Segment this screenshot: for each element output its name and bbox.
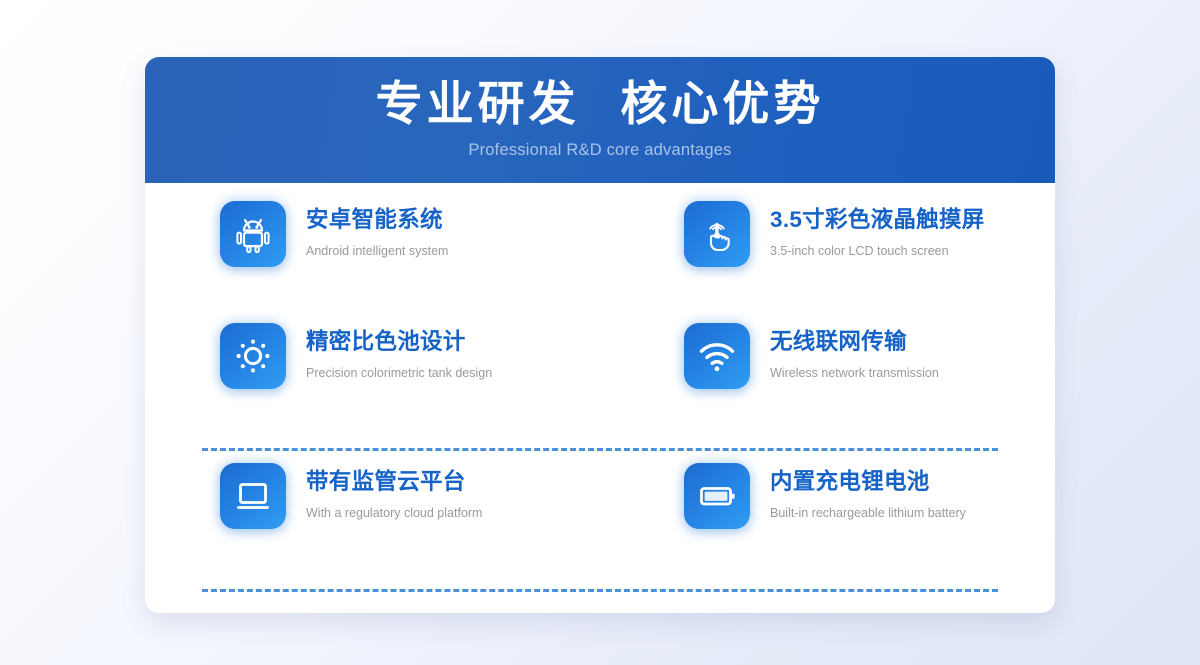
feature-text: 带有监管云平台 With a regulatory cloud platform xyxy=(286,463,482,521)
feature-title: 3.5寸彩色液晶触摸屏 xyxy=(770,206,985,233)
feature-item-colorimetric-tank[interactable]: 精密比色池设计 Precision colorimetric tank desi… xyxy=(145,323,600,389)
feature-item-wireless[interactable]: 无线联网传输 Wireless network transmission xyxy=(600,323,1055,389)
laptop-monitor-icon xyxy=(220,463,286,529)
feature-item-touchscreen[interactable]: 3.5寸彩色液晶触摸屏 3.5-inch color LCD touch scr… xyxy=(600,201,1055,267)
section-divider xyxy=(202,589,998,592)
features-grid: 安卓智能系统 Android intelligent system xyxy=(145,183,1055,603)
battery-icon xyxy=(684,463,750,529)
advantages-card: 专业研发 核心优势 Professional R&D core advantag… xyxy=(145,57,1055,613)
feature-subtitle: Wireless network transmission xyxy=(770,355,939,381)
feature-title: 无线联网传输 xyxy=(770,328,939,355)
touch-hand-icon xyxy=(684,201,750,267)
feature-subtitle: With a regulatory cloud platform xyxy=(306,495,482,521)
feature-subtitle: Android intelligent system xyxy=(306,233,448,259)
feature-subtitle: Built-in rechargeable lithium battery xyxy=(770,495,966,521)
feature-text: 精密比色池设计 Precision colorimetric tank desi… xyxy=(286,323,492,381)
feature-row: 安卓智能系统 Android intelligent system xyxy=(145,183,1055,323)
sun-brightness-icon xyxy=(220,323,286,389)
feature-text: 3.5寸彩色液晶触摸屏 3.5-inch color LCD touch scr… xyxy=(750,201,985,259)
feature-item-cloud-platform[interactable]: 带有监管云平台 With a regulatory cloud platform xyxy=(145,463,600,529)
page-subtitle: Professional R&D core advantages xyxy=(145,131,1055,160)
page-title: 专业研发 核心优势 xyxy=(145,57,1055,131)
card-header: 专业研发 核心优势 Professional R&D core advantag… xyxy=(145,57,1055,183)
feature-subtitle: 3.5-inch color LCD touch screen xyxy=(770,233,985,259)
android-robot-icon xyxy=(220,201,286,267)
page-root: 专业研发 核心优势 Professional R&D core advantag… xyxy=(0,0,1200,665)
feature-item-android[interactable]: 安卓智能系统 Android intelligent system xyxy=(145,201,600,267)
feature-row: 精密比色池设计 Precision colorimetric tank desi… xyxy=(145,323,1055,463)
feature-title: 内置充电锂电池 xyxy=(770,468,966,495)
feature-title: 精密比色池设计 xyxy=(306,328,492,355)
feature-item-battery[interactable]: 内置充电锂电池 Built-in rechargeable lithium ba… xyxy=(600,463,1055,529)
feature-text: 安卓智能系统 Android intelligent system xyxy=(286,201,448,259)
feature-text: 无线联网传输 Wireless network transmission xyxy=(750,323,939,381)
feature-title: 带有监管云平台 xyxy=(306,468,482,495)
section-divider xyxy=(202,448,998,451)
feature-row: 带有监管云平台 With a regulatory cloud platform… xyxy=(145,463,1055,603)
wifi-icon xyxy=(684,323,750,389)
feature-text: 内置充电锂电池 Built-in rechargeable lithium ba… xyxy=(750,463,966,521)
feature-title: 安卓智能系统 xyxy=(306,206,448,233)
feature-subtitle: Precision colorimetric tank design xyxy=(306,355,492,381)
